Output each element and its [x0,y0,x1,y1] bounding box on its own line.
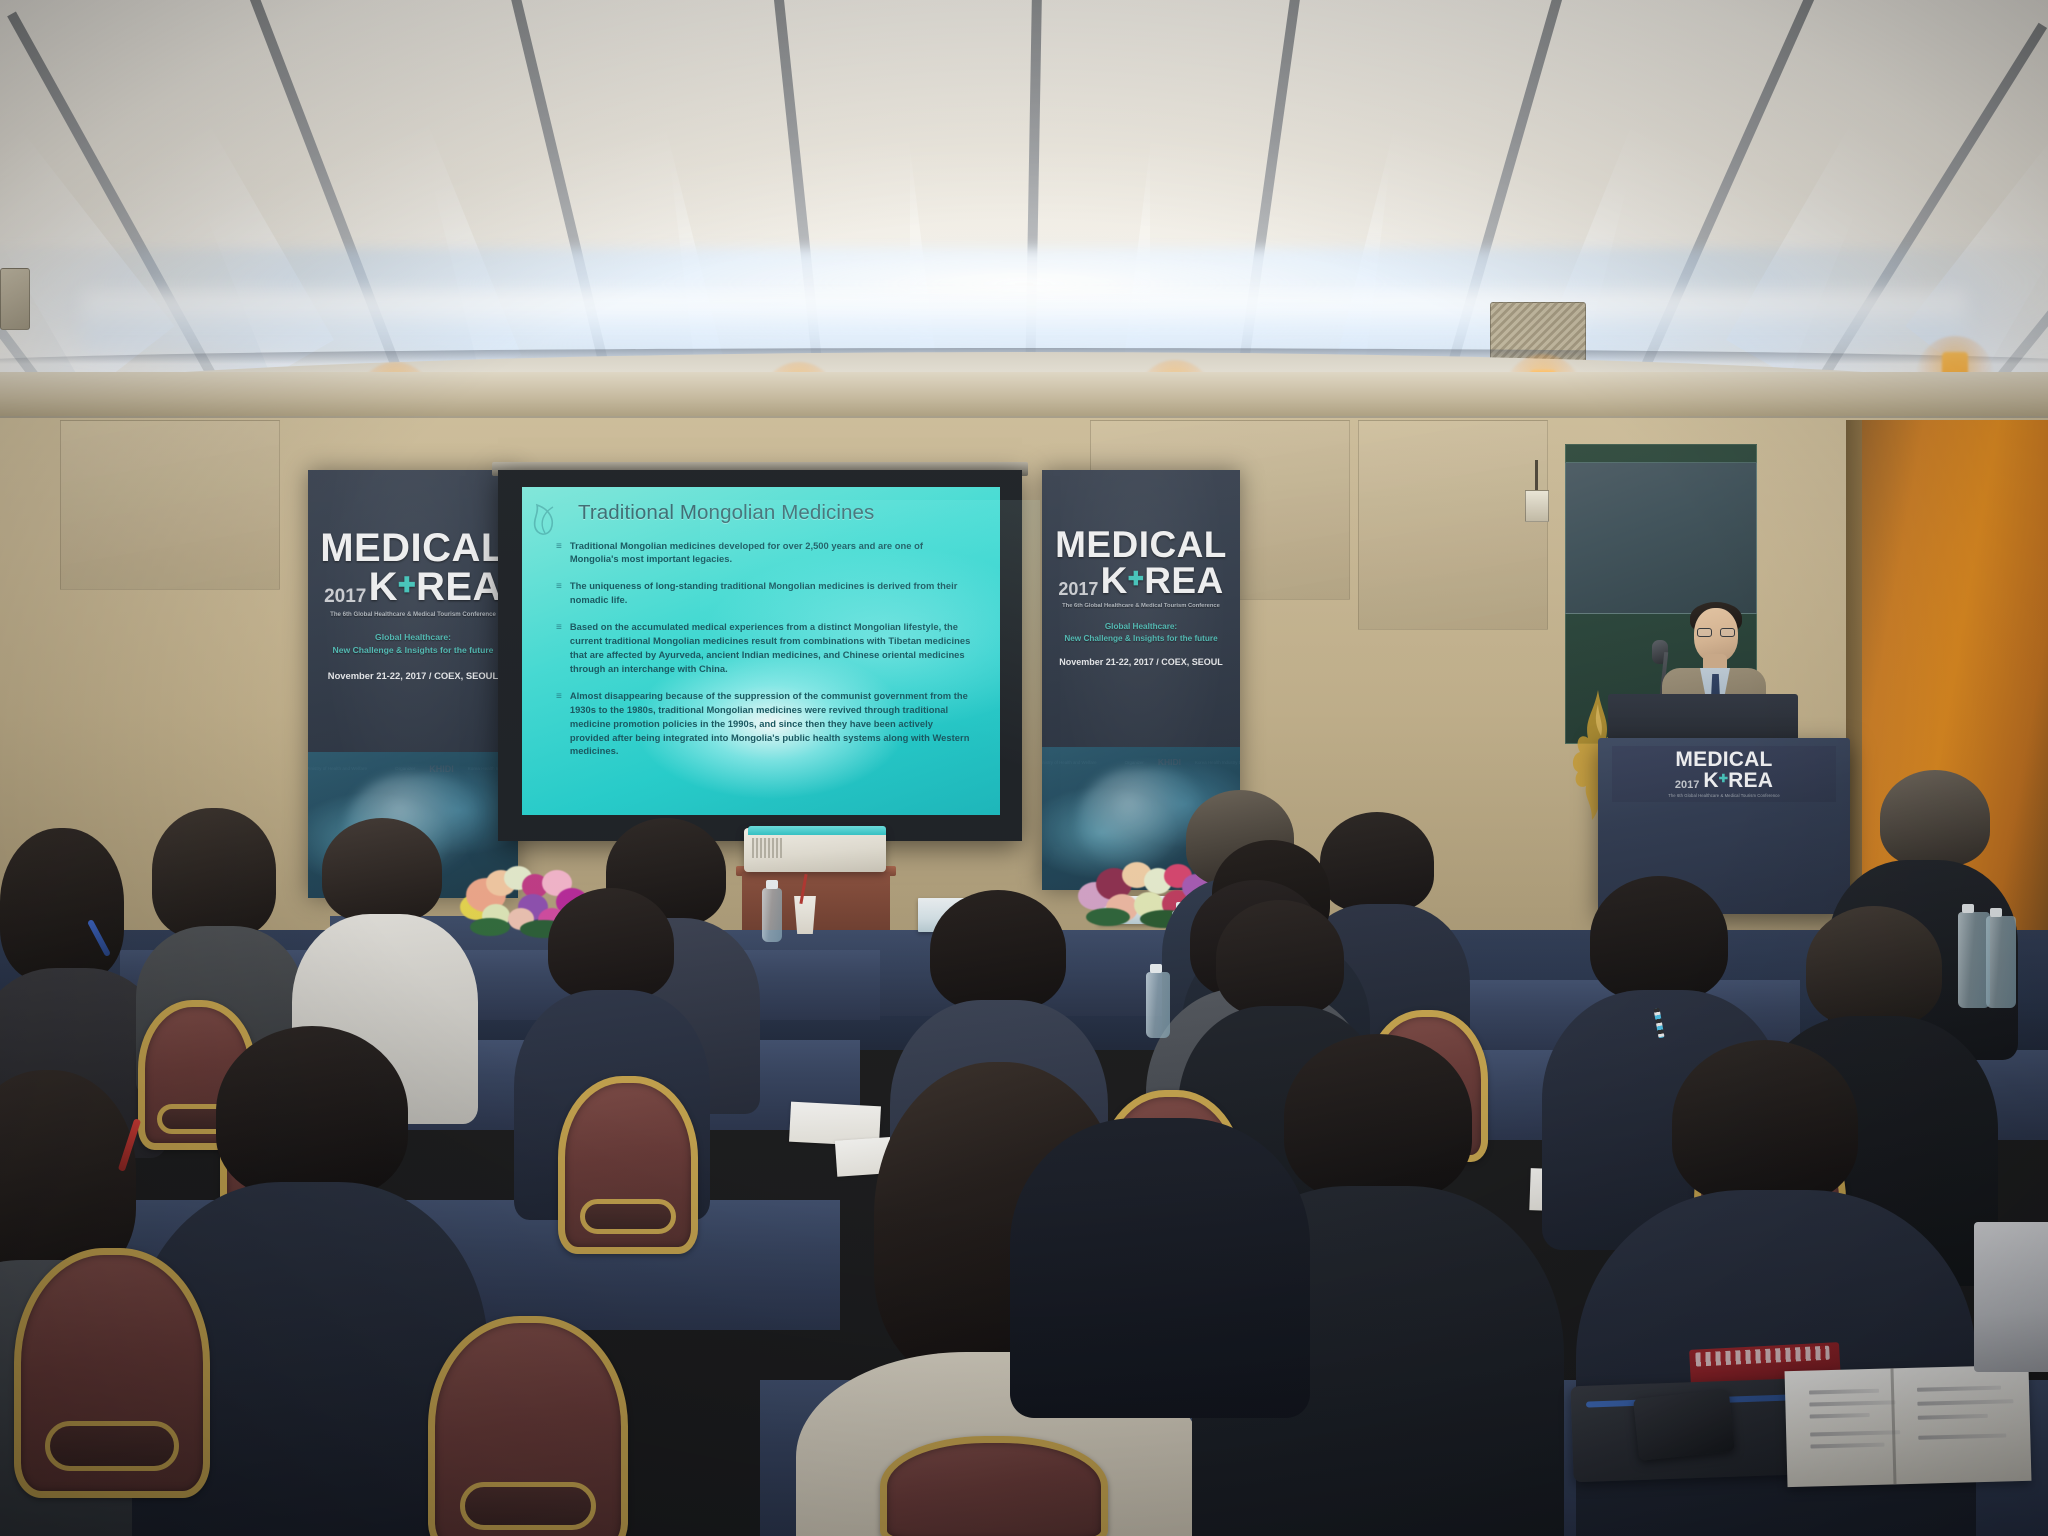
podium-brand-medical: MEDICAL [1668,749,1780,770]
medical-cross-icon-podium: ✚ [1719,774,1728,785]
bullet-marker-icon: ≡ [556,579,562,607]
water-bottle-front[interactable] [1958,912,1990,1008]
water-bottle-audience-1 [1986,916,2016,1008]
slide-bullet-text: Almost disappearing because of the suppr… [570,689,974,759]
banquet-chair[interactable] [428,1316,628,1536]
banner-left-brand-medical: MEDICAL [308,530,518,567]
wall-plaque [1525,490,1549,522]
smartphone[interactable] [1633,1389,1735,1461]
stage-backdrop-upper-panel [1565,462,1757,614]
banquet-chair[interactable] [558,1076,698,1254]
banner-right-theme-line1: Global Healthcare: [1042,622,1240,631]
projector-vent [752,838,782,858]
slide-leaf-icon [531,503,561,537]
projection-screen: Traditional Mongolian Medicines ≡ Tradit… [498,470,1022,841]
laptop[interactable] [1974,1222,2048,1372]
slide-bullet-item: ≡ Almost disappearing because of the sup… [556,689,980,759]
water-bottle-stage-1 [762,888,782,942]
slide-title: Traditional Mongolian Medicines [578,501,980,525]
domed-ceiling [0,0,2048,400]
conference-booklet[interactable] [1785,1365,2032,1487]
wall-cornice-trim [0,372,2048,418]
banner-left-tagline: The 6th Global Healthcare & Medical Tour… [308,611,518,618]
banner-right-brand-medical: MEDICAL [1042,528,1240,562]
banner-right-theme-line2: New Challenge & Insights for the future [1042,634,1240,643]
banner-right-korea-rest: REA [1144,560,1223,601]
banner-left-date-venue: November 21-22, 2017 / COEX, SEOUL [308,670,518,681]
banquet-chair[interactable] [14,1248,210,1498]
conference-photo-scene: Medical Korea 2017 conference session — … [0,0,2048,1536]
bullet-marker-icon: ≡ [556,620,562,676]
slide-bullet-text: Traditional Mongolian medicines develope… [570,539,974,567]
presentation-slide: Traditional Mongolian Medicines ≡ Tradit… [522,487,1000,815]
banner-right-date-venue: November 21-22, 2017 / COEX, SEOUL [1042,657,1240,667]
medical-cross-icon: ✚ [398,576,416,596]
slide-bullet-text: Based on the accumulated medical experie… [570,620,974,676]
podium-year: 2017 [1675,780,1699,791]
slide-bullet-text: The uniqueness of long-standing traditio… [570,579,974,607]
lectern-branding-plate: MEDICAL 2017 K✚REA The 6th Global Health… [1612,746,1836,802]
slide-bullet-item: ≡ Based on the accumulated medical exper… [556,620,980,676]
podium-korea-rest: REA [1728,769,1773,792]
slide-bullet-list: ≡ Traditional Mongolian medicines develo… [556,539,980,759]
podium-tagline: The 6th Global Healthcare & Medical Tour… [1668,794,1780,798]
eyeglasses-icon [1697,628,1735,638]
banner-left-korea-k: K [369,565,398,609]
ceiling-speaker-left [0,268,30,330]
medical-cross-icon-right: ✚ [1128,571,1144,589]
banner-right-korea-k: K [1101,560,1128,601]
hanging-rod [1535,460,1538,492]
water-bottle-audience-2 [1146,972,1170,1038]
podium-korea-k: K [1703,769,1718,792]
projector-lens-strip [748,826,886,835]
slide-bullet-item: ≡ The uniqueness of long-standing tradit… [556,579,980,607]
wall-panel-c [1358,420,1548,630]
banner-left-korea-rest: REA [416,565,502,609]
slide-bullet-item: ≡ Traditional Mongolian medicines develo… [556,539,980,567]
banner-left-year: 2017 [324,587,366,606]
banner-right-tagline: The 6th Global Healthcare & Medical Tour… [1042,603,1240,609]
bullet-marker-icon: ≡ [556,689,562,759]
banner-right-year: 2017 [1058,580,1098,598]
wall-panel-a [60,420,280,590]
banner-left-theme-line1: Global Healthcare: [308,632,518,642]
banner-left-theme-line2: New Challenge & Insights for the future [308,645,518,655]
banquet-chair[interactable] [880,1436,1108,1536]
bullet-marker-icon: ≡ [556,539,562,567]
